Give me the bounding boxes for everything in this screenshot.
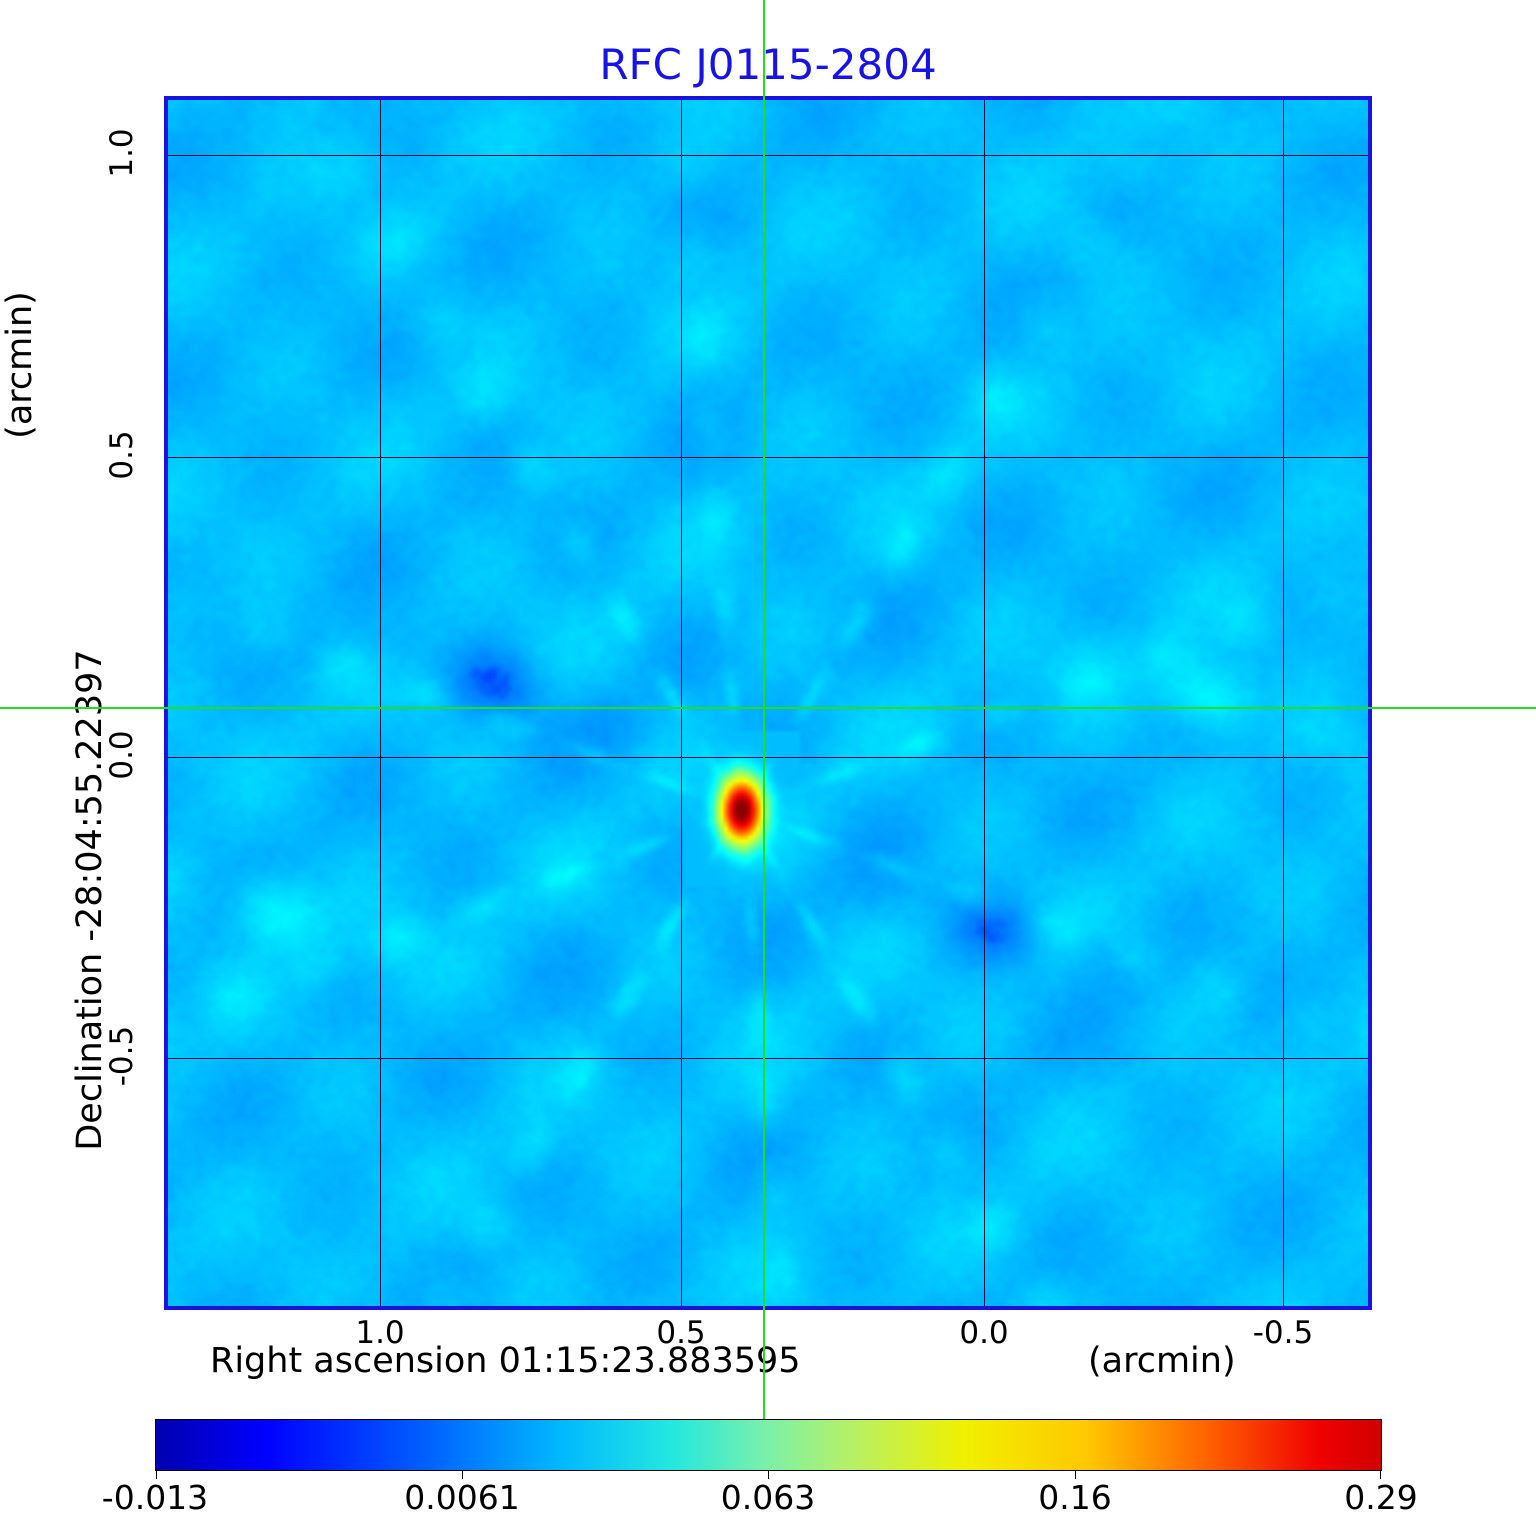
y-tick-label: 0.5 <box>104 385 140 525</box>
colorbar-tick-label: 0.0061 <box>352 1478 572 1517</box>
radio-image-viewer[interactable]: RFC J0115-2804 1.00.50.0-0.5 1.00.50.0-0… <box>0 0 1536 1511</box>
colorbar-gradient[interactable] <box>155 1419 1382 1471</box>
colorbar-tick-label: -0.013 <box>45 1478 265 1517</box>
colorbar[interactable] <box>155 1419 1382 1471</box>
x-axis-unit: (arcmin) <box>1088 1341 1236 1381</box>
colorbar-tick-label: 0.16 <box>965 1478 1185 1517</box>
x-axis-title: Right ascension 01:15:23.883595 <box>210 1341 801 1381</box>
sky-image-panel[interactable] <box>164 96 1372 1310</box>
y-axis-title: Declination -28:04:55.22397 <box>70 600 110 1200</box>
sky-image-canvas[interactable] <box>168 100 1368 1306</box>
x-tick-label: 0.0 <box>914 1315 1054 1351</box>
y-axis-unit: (arcmin) <box>0 165 40 565</box>
y-tick-label: 1.0 <box>104 83 140 223</box>
colorbar-tick-label: 0.29 <box>1271 1478 1491 1517</box>
page-title: RFC J0115-2804 <box>0 40 1536 89</box>
colorbar-tick-label: 0.063 <box>658 1478 878 1517</box>
